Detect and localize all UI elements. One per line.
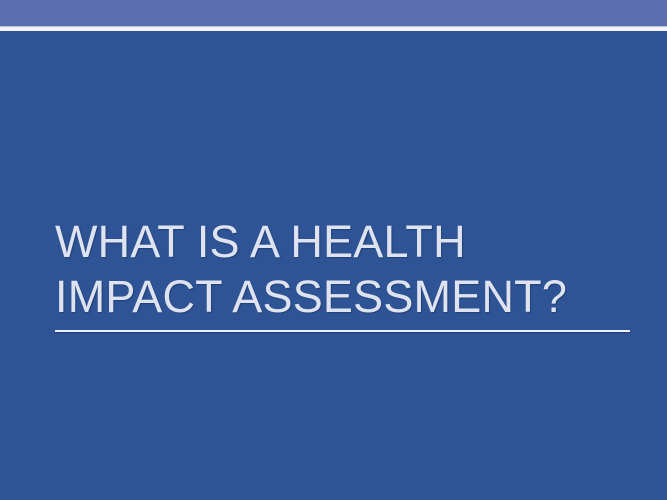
- presentation-slide: WHAT IS A HEALTH IMPACT ASSESSMENT?: [0, 0, 667, 500]
- slide-title-line-1: WHAT IS A HEALTH: [55, 214, 631, 269]
- top-divider-shadow: [0, 26, 667, 27]
- title-underline-rule: [55, 330, 630, 332]
- slide-title-line-2: IMPACT ASSESSMENT?: [55, 269, 631, 324]
- slide-title: WHAT IS A HEALTH IMPACT ASSESSMENT?: [55, 214, 631, 324]
- top-accent-band: [0, 0, 667, 26]
